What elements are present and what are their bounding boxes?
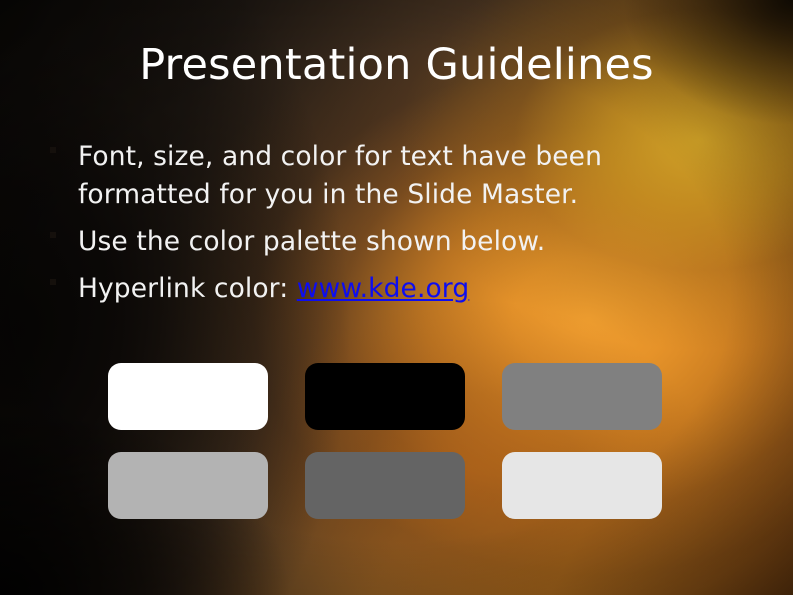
swatch-light-gray (108, 452, 268, 519)
bullet-square-icon (50, 232, 56, 238)
bullet-item-3-text: Hyperlink color: www.kde.org (78, 273, 469, 304)
swatch-off-white (502, 452, 662, 519)
bullet-list: Font, size, and color for text have been… (44, 138, 734, 318)
slide-title: Presentation Guidelines (0, 42, 793, 89)
bullet-item-2: Use the color palette shown below. (44, 223, 734, 261)
hyperlink-label-prefix: Hyperlink color: (78, 273, 297, 304)
bullet-item-1-text: Font, size, and color for text have been… (78, 141, 602, 210)
bullet-square-icon (50, 279, 56, 285)
swatch-gray (502, 363, 662, 430)
hyperlink-kde-org[interactable]: www.kde.org (297, 273, 469, 304)
bullet-item-3: Hyperlink color: www.kde.org (44, 270, 734, 308)
swatch-dark-gray (305, 452, 465, 519)
swatch-black (305, 363, 465, 430)
swatch-white (108, 363, 268, 430)
color-palette-grid (108, 363, 662, 519)
presentation-slide: Presentation Guidelines Font, size, and … (0, 0, 793, 595)
bullet-square-icon (50, 147, 56, 153)
bullet-item-1: Font, size, and color for text have been… (44, 138, 734, 214)
slide-content: Presentation Guidelines Font, size, and … (0, 0, 793, 595)
bullet-item-2-text: Use the color palette shown below. (78, 226, 545, 257)
